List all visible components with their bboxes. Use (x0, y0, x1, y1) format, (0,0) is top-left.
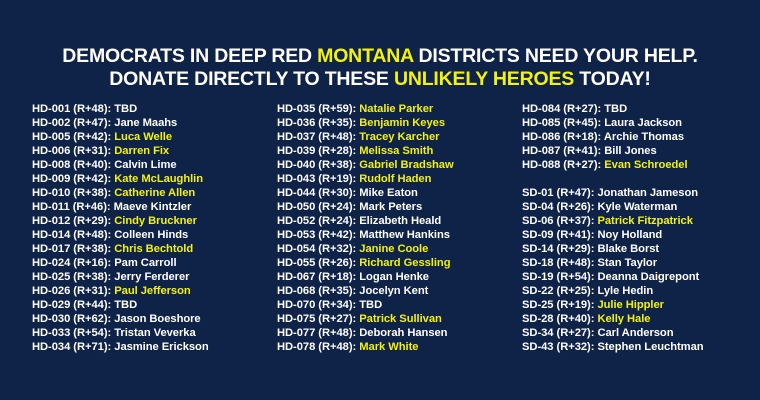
district-code: HD-001 (R+48): (32, 103, 111, 115)
listing-column-2: HD-035 (R+59): Natalie ParkerHD-036 (R+3… (277, 102, 517, 354)
district-code: HD-008 (R+40): (32, 159, 111, 171)
candidate-name: Matthew Hankins (359, 229, 450, 241)
candidate-name: Kate McLaughlin (114, 173, 203, 185)
candidate-name: Maeve Kintzler (114, 201, 192, 213)
district-listing: HD-037 (R+48): Tracey Karcher (277, 130, 517, 144)
district-listing: SD-06 (R+37): Patrick Fitzpatrick (522, 214, 760, 228)
district-listing: SD-22 (R+25): Lyle Hedin (522, 284, 760, 298)
district-code: SD-22 (R+25): (522, 285, 594, 297)
candidate-name: Mark White (359, 341, 418, 353)
headline-highlight-montana: Montana (317, 45, 413, 67)
candidate-name: Deborah Hansen (359, 327, 447, 339)
candidate-name: Blake Borst (597, 243, 659, 255)
district-listing: HD-035 (R+59): Natalie Parker (277, 102, 517, 116)
district-listing: SD-09 (R+41): Noy Holland (522, 228, 760, 242)
district-code: SD-09 (R+41): (522, 229, 594, 241)
candidate-name: Evan Schroedel (604, 159, 687, 171)
district-listing: SD-19 (R+54): Deanna Daigrepont (522, 270, 760, 284)
candidate-name: Laura Jackson (604, 117, 682, 129)
district-listing: HD-025 (R+38): Jerry Ferderer (32, 270, 272, 284)
district-code: SD-18 (R+48): (522, 257, 594, 269)
district-listing: HD-040 (R+38): Gabriel Bradshaw (277, 158, 517, 172)
district-listing: HD-067 (R+18): Logan Henke (277, 270, 517, 284)
district-code: HD-040 (R+38): (277, 159, 356, 171)
candidate-name: Jocelyn Kent (359, 285, 428, 297)
district-code: HD-006 (R+31): (32, 145, 111, 157)
district-code: SD-14 (R+29): (522, 243, 594, 255)
district-listing: HD-068 (R+35): Jocelyn Kent (277, 284, 517, 298)
candidate-name: TBD (604, 103, 627, 115)
district-code: HD-039 (R+28): (277, 145, 356, 157)
district-listing: HD-084 (R+27): TBD (522, 102, 760, 116)
candidate-name: Jonathan Jameson (597, 187, 698, 199)
district-code: HD-086 (R+18): (522, 131, 601, 143)
candidate-name: Jason Boeshore (114, 313, 200, 325)
candidate-name: TBD (114, 103, 137, 115)
district-listing: HD-012 (R+29): Cindy Bruckner (32, 214, 272, 228)
district-listing: HD-024 (R+16): Pam Carroll (32, 256, 272, 270)
district-listing: HD-001 (R+48): TBD (32, 102, 272, 116)
candidate-name: Kelly Hale (597, 313, 650, 325)
poster-canvas: Democrats in deep red Montana districts … (0, 0, 760, 400)
candidate-name: Luca Welle (114, 131, 172, 143)
district-listing: HD-085 (R+45): Laura Jackson (522, 116, 760, 130)
candidate-name: Gabriel Bradshaw (359, 159, 453, 171)
district-code: HD-026 (R+31): (32, 285, 111, 297)
district-listing: SD-25 (R+19): Julie Hippler (522, 298, 760, 312)
candidate-name: Kyle Waterman (597, 201, 677, 213)
district-listing: SD-18 (R+48): Stan Taylor (522, 256, 760, 270)
district-listing: SD-01 (R+47): Jonathan Jameson (522, 186, 760, 200)
district-listing: SD-28 (R+40): Kelly Hale (522, 312, 760, 326)
district-code: SD-04 (R+26): (522, 201, 594, 213)
district-code: HD-088 (R+27): (522, 159, 601, 171)
district-code: HD-075 (R+27): (277, 313, 356, 325)
district-code: SD-34 (R+27): (522, 327, 594, 339)
district-code: HD-053 (R+42): (277, 229, 356, 241)
district-code: HD-025 (R+38): (32, 271, 111, 283)
district-code: HD-085 (R+45): (522, 117, 601, 129)
candidate-name: TBD (359, 299, 382, 311)
district-listing: HD-055 (R+26): Richard Gessling (277, 256, 517, 270)
candidate-name: Natalie Parker (359, 103, 433, 115)
district-code: HD-014 (R+48): (32, 229, 111, 241)
candidate-name: Lyle Hedin (597, 285, 653, 297)
district-listing: HD-050 (R+24): Mark Peters (277, 200, 517, 214)
candidate-name: Mike Eaton (359, 187, 418, 199)
district-code: HD-077 (R+48): (277, 327, 356, 339)
district-listing: HD-033 (R+54): Tristan Veverka (32, 326, 272, 340)
district-listing: HD-070 (R+34): TBD (277, 298, 517, 312)
listing-section-gap (522, 172, 760, 186)
district-listing: HD-014 (R+48): Colleen Hinds (32, 228, 272, 242)
district-listing: HD-086 (R+18): Archie Thomas (522, 130, 760, 144)
candidate-name: Tristan Veverka (114, 327, 195, 339)
district-code: HD-068 (R+35): (277, 285, 356, 297)
district-code: SD-19 (R+54): (522, 271, 594, 283)
district-listing: HD-011 (R+46): Maeve Kintzler (32, 200, 272, 214)
district-code: HD-044 (R+30): (277, 187, 356, 199)
listing-column-1: HD-001 (R+48): TBDHD-002 (R+47): Jane Ma… (32, 102, 272, 354)
candidate-name: Janine Coole (359, 243, 428, 255)
headline-line-1-post: districts need your help. (413, 45, 697, 67)
candidate-name: Richard Gessling (359, 257, 450, 269)
candidate-name: Elizabeth Heald (359, 215, 441, 227)
district-code: HD-067 (R+18): (277, 271, 356, 283)
district-code: SD-06 (R+37): (522, 215, 594, 227)
candidate-name: Paul Jefferson (114, 285, 190, 297)
district-code: HD-055 (R+26): (277, 257, 356, 269)
district-listing: HD-077 (R+48): Deborah Hansen (277, 326, 517, 340)
district-code: HD-087 (R+41): (522, 145, 601, 157)
district-code: HD-036 (R+35): (277, 117, 356, 129)
candidate-name: Colleen Hinds (114, 229, 188, 241)
headline-line-2-pre: Donate directly to these (109, 68, 394, 90)
headline-highlight-unlikely-heroes: unlikely heroes (394, 68, 574, 90)
headline-line-1: Democrats in deep red Montana districts … (0, 45, 760, 68)
district-code: HD-033 (R+54): (32, 327, 111, 339)
candidate-name: Carl Anderson (597, 327, 673, 339)
district-listing: HD-053 (R+42): Matthew Hankins (277, 228, 517, 242)
district-listing: HD-002 (R+47): Jane Maahs (32, 116, 272, 130)
listing-column-3: HD-084 (R+27): TBDHD-085 (R+45): Laura J… (522, 102, 760, 354)
district-listing: HD-030 (R+62): Jason Boeshore (32, 312, 272, 326)
district-listing: HD-039 (R+28): Melissa Smith (277, 144, 517, 158)
candidate-name: Logan Henke (359, 271, 429, 283)
district-code: HD-010 (R+38): (32, 187, 111, 199)
headline-line-1-pre: Democrats in deep red (62, 45, 317, 67)
district-code: HD-011 (R+46): (32, 201, 111, 213)
district-listing: HD-043 (R+19): Rudolf Haden (277, 172, 517, 186)
candidate-name: Tracey Karcher (359, 131, 439, 143)
district-code: HD-030 (R+62): (32, 313, 111, 325)
candidate-name: Jasmine Erickson (114, 341, 208, 353)
headline-line-2-post: today! (574, 68, 651, 90)
candidate-name: Pam Carroll (114, 257, 176, 269)
district-listing: HD-036 (R+35): Benjamin Keyes (277, 116, 517, 130)
district-code: HD-002 (R+47): (32, 117, 111, 129)
district-code: HD-037 (R+48): (277, 131, 356, 143)
district-listing: HD-017 (R+38): Chris Bechtold (32, 242, 272, 256)
page-title: Democrats in deep red Montana districts … (0, 45, 760, 91)
candidate-name: Noy Holland (597, 229, 662, 241)
candidate-name: Jerry Ferderer (114, 271, 189, 283)
district-code: HD-054 (R+32): (277, 243, 356, 255)
candidate-name: Jane Maahs (114, 117, 177, 129)
district-listing: SD-14 (R+29): Blake Borst (522, 242, 760, 256)
headline-line-2: Donate directly to these unlikely heroes… (0, 68, 760, 91)
candidate-name: Rudolf Haden (359, 173, 431, 185)
district-listing: HD-034 (R+71): Jasmine Erickson (32, 340, 272, 354)
candidate-name: Stephen Leuchtman (597, 341, 703, 353)
candidate-name: Catherine Allen (114, 187, 195, 199)
district-listing: HD-088 (R+27): Evan Schroedel (522, 158, 760, 172)
district-code: HD-084 (R+27): (522, 103, 601, 115)
district-code: HD-050 (R+24): (277, 201, 356, 213)
district-code: HD-017 (R+38): (32, 243, 111, 255)
candidate-name: Melissa Smith (359, 145, 433, 157)
candidate-name: Cindy Bruckner (114, 215, 197, 227)
district-listing: HD-009 (R+42): Kate McLaughlin (32, 172, 272, 186)
district-listing: HD-078 (R+48): Mark White (277, 340, 517, 354)
candidate-name: Bill Jones (604, 145, 656, 157)
district-code: HD-034 (R+71): (32, 341, 111, 353)
district-listing: SD-43 (R+32): Stephen Leuchtman (522, 340, 760, 354)
district-listing: SD-34 (R+27): Carl Anderson (522, 326, 760, 340)
district-code: HD-029 (R+44): (32, 299, 111, 311)
district-listing: HD-005 (R+42): Luca Welle (32, 130, 272, 144)
district-code: HD-012 (R+29): (32, 215, 111, 227)
candidate-name: Stan Taylor (597, 257, 657, 269)
candidate-name: Julie Hippler (597, 299, 664, 311)
district-listing: HD-044 (R+30): Mike Eaton (277, 186, 517, 200)
candidate-name: Calvin Lime (114, 159, 176, 171)
district-code: HD-024 (R+16): (32, 257, 111, 269)
candidate-name: Patrick Sullivan (359, 313, 442, 325)
candidate-name: Mark Peters (359, 201, 422, 213)
district-listing: HD-010 (R+38): Catherine Allen (32, 186, 272, 200)
district-listing: SD-04 (R+26): Kyle Waterman (522, 200, 760, 214)
district-code: HD-078 (R+48): (277, 341, 356, 353)
district-code: HD-035 (R+59): (277, 103, 356, 115)
candidate-name: Darren Fix (114, 145, 169, 157)
district-code: HD-052 (R+24): (277, 215, 356, 227)
candidate-name: Chris Bechtold (114, 243, 193, 255)
district-code: HD-043 (R+19): (277, 173, 356, 185)
district-listing: HD-052 (R+24): Elizabeth Heald (277, 214, 517, 228)
district-listing: HD-087 (R+41): Bill Jones (522, 144, 760, 158)
district-code: HD-070 (R+34): (277, 299, 356, 311)
district-code: HD-005 (R+42): (32, 131, 111, 143)
district-code: HD-009 (R+42): (32, 173, 111, 185)
candidate-name: Deanna Daigrepont (597, 271, 699, 283)
district-listing: HD-026 (R+31): Paul Jefferson (32, 284, 272, 298)
district-code: SD-25 (R+19): (522, 299, 594, 311)
district-listing: HD-008 (R+40): Calvin Lime (32, 158, 272, 172)
district-listing: HD-029 (R+44): TBD (32, 298, 272, 312)
candidate-name: Archie Thomas (604, 131, 684, 143)
district-listing: HD-054 (R+32): Janine Coole (277, 242, 517, 256)
district-listing: HD-006 (R+31): Darren Fix (32, 144, 272, 158)
district-code: SD-01 (R+47): (522, 187, 594, 199)
district-code: SD-28 (R+40): (522, 313, 594, 325)
district-listing: HD-075 (R+27): Patrick Sullivan (277, 312, 517, 326)
candidate-name: TBD (114, 299, 137, 311)
candidate-name: Patrick Fitzpatrick (597, 215, 692, 227)
candidate-name: Benjamin Keyes (359, 117, 445, 129)
district-code: SD-43 (R+32): (522, 341, 594, 353)
